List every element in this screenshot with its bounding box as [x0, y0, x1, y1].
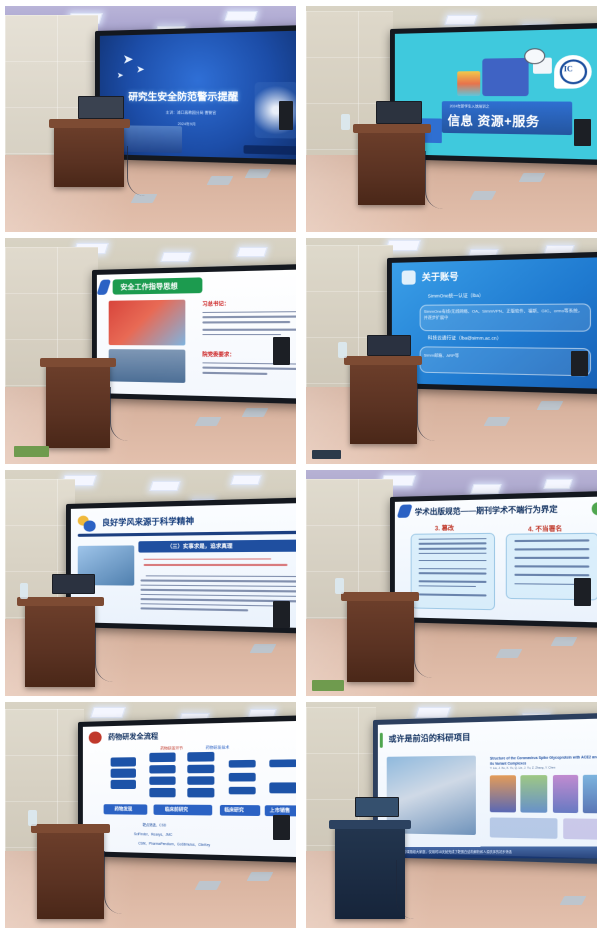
slide-presenter: 主讲：浦口高教园分局 曹警官 — [166, 110, 217, 116]
slide-title: 安全工作指导思想 — [121, 280, 178, 291]
footnote-3: CSM、PharmaPendium、GoStimulus、ClinKey — [138, 841, 210, 848]
bottom-caption: 团队协作的课题组大家庭，仅用时18天就完成了靶蛋白结构解析和人源抗体的初步筛选 — [390, 849, 511, 854]
floor-socket — [536, 401, 563, 410]
footnote-1: 靶点筛选、CSD — [142, 823, 166, 829]
structure-figure — [521, 775, 548, 813]
figure-authors: Y. Liu, J. Xu, X. Yu, Q. Lin, J. Yu, Z. … — [490, 766, 597, 770]
laptop-screen — [79, 97, 124, 118]
slide-title: 关于账号 — [422, 270, 459, 284]
green-case — [312, 680, 344, 691]
slide-footer — [244, 145, 296, 155]
dot-icon — [84, 521, 95, 531]
floor-socket — [244, 169, 271, 178]
ceiling-lamp — [470, 484, 501, 494]
ceiling-lamp — [91, 707, 127, 718]
floor-socket — [496, 649, 523, 658]
podium-top — [344, 356, 423, 365]
ceiling-lamp — [230, 475, 261, 485]
podium — [25, 601, 95, 687]
cable — [104, 851, 137, 914]
wall-speaker — [273, 601, 290, 628]
title-accent — [380, 732, 383, 747]
chart-figure — [563, 819, 597, 840]
podium — [46, 362, 110, 448]
ceiling-lamp — [543, 479, 572, 489]
figure-caption: Structure of the Coronavirus Spike Glyco… — [490, 755, 597, 767]
cable — [95, 628, 125, 682]
slide-content: 或许是前沿的科研项目 Structure of the Coronavirus … — [378, 718, 597, 858]
section-2-heading: 院党委要求： — [203, 351, 236, 359]
meeting-photo — [109, 349, 186, 383]
info-box-2 — [420, 346, 591, 376]
ceiling-lamp — [225, 11, 258, 21]
laptop-screen — [368, 336, 410, 354]
photo-panel-6[interactable]: 学术出版规范——期刊学术不端行为界定 3. 篡改 4. 不当署名 — [306, 470, 597, 696]
cable — [396, 860, 426, 919]
water-bottle — [20, 583, 29, 599]
laptop — [376, 101, 423, 124]
section-heading: （三）实事求是，追求真理 — [167, 542, 233, 550]
laptop — [52, 574, 96, 594]
structure-figure — [490, 775, 516, 813]
podium — [350, 360, 417, 444]
laptop-screen — [356, 798, 398, 816]
water-bottle — [338, 342, 347, 358]
wall-speaker — [574, 119, 591, 146]
slide-title: 学术出版规范——期刊学术不端行为界定 — [415, 503, 558, 517]
cable — [110, 387, 146, 441]
podium — [335, 824, 405, 919]
logo-icon — [89, 732, 102, 745]
slide-content: 良好学风来源于科学精神 （三）实事求是，追求真理 — [71, 503, 296, 628]
photo-panel-8[interactable]: 或许是前沿的科研项目 Structure of the Coronavirus … — [306, 702, 597, 928]
cable — [127, 146, 169, 196]
podium-top — [49, 119, 130, 128]
cable — [414, 619, 447, 678]
ic-badge: IC — [555, 54, 593, 88]
podium-top — [31, 824, 110, 833]
slide-content: 学术出版规范——期刊学术不端行为界定 3. 篡改 4. 不当署名 — [395, 496, 597, 623]
ceiling-lamp — [161, 252, 192, 262]
podium-top — [341, 592, 420, 601]
podium — [358, 128, 425, 205]
cable — [425, 151, 473, 210]
laptop-screen — [377, 102, 422, 123]
slide-title: 药物研发全流程 — [108, 731, 158, 742]
podium-top — [17, 597, 104, 606]
podium-top — [40, 358, 116, 367]
photo-panel-4[interactable]: 关于账号 SimmOne统一认证（lba） SimmOne有线/无线网络、OA、… — [306, 238, 597, 464]
slide-content: 安全工作指导思想 习总书记： 院党委要求： — [97, 269, 296, 398]
led-screen[interactable]: 或许是前沿的科研项目 Structure of the Coronavirus … — [373, 713, 597, 865]
title-icon — [402, 271, 416, 285]
podium-top — [353, 124, 432, 133]
ceiling-lamp — [415, 707, 451, 718]
slide-content: ➤ ➤ ➤ 研究生安全防范警示提醒 主讲：浦口高教园分局 曹警官 2024年9月 — [100, 30, 296, 158]
photo-panel-1[interactable]: ➤ ➤ ➤ 研究生安全防范警示提醒 主讲：浦口高教园分局 曹警官 2024年9月 — [5, 6, 296, 232]
stage-2-label: 临床前研究 — [164, 807, 187, 813]
chart-figure — [490, 818, 558, 839]
led-screen[interactable]: 药物研发全流程 药物研发环节 药物研发技术 — [78, 715, 296, 864]
footnote-2: SciFinder、Reaxys、JMC — [134, 832, 173, 838]
column-1-heading: 3. 篡改 — [435, 523, 454, 532]
title-accent — [397, 505, 413, 518]
photo-panel-7[interactable]: 药物研发全流程 药物研发环节 药物研发技术 — [5, 702, 296, 928]
stage-3-label: 临床研究 — [224, 807, 244, 814]
title-rule — [78, 530, 296, 536]
logo-icon — [592, 502, 597, 516]
bullet-1: SimmOne统一认证（lba） — [428, 293, 484, 300]
cable — [417, 383, 453, 442]
bullet-2: 科技云通行证（lba@simm.ac.cn） — [428, 335, 502, 342]
slide-eyebrow: 2024年新学生入馆培训之 — [450, 103, 490, 108]
water-bottle — [341, 114, 350, 130]
slide-title: 信息 资源+服务 — [448, 111, 540, 130]
floor-socket — [241, 408, 268, 417]
ceiling-lamp — [444, 15, 477, 25]
floor-socket — [206, 176, 233, 185]
floor-socket — [195, 417, 222, 426]
green-case — [14, 446, 49, 457]
water-bottle — [335, 578, 344, 594]
photo-panel-5[interactable]: 良好学风来源于科学精神 （三）实事求是，追求真理 — [5, 470, 296, 696]
led-screen[interactable]: 关于账号 SimmOne统一认证（lba） SimmOne有线/无线网络、OA、… — [387, 252, 597, 395]
led-screen[interactable]: 学术出版规范——期刊学术不端行为界定 3. 篡改 4. 不当署名 — [390, 491, 597, 629]
section-1-heading: 习总书记： — [203, 300, 230, 308]
equipment-case — [312, 450, 341, 459]
photo-panel-3[interactable]: 安全工作指导思想 习总书记： 院党委要求： — [5, 238, 296, 464]
wall-speaker — [279, 101, 294, 130]
led-screen[interactable]: 良好学风来源于科学精神 （三）实事求是，追求真理 — [66, 497, 296, 634]
stage-1-label: 药物发现 — [114, 807, 132, 813]
photo-panel-2[interactable]: IC 2024年新学生入馆培训之 信息 资源+服务 — [306, 6, 597, 232]
box-2-text: Simm邮箱、ARP等 — [424, 352, 459, 359]
ceiling-lamp — [149, 481, 180, 491]
wall-speaker — [273, 815, 290, 840]
led-screen[interactable]: ➤ ➤ ➤ 研究生安全防范警示提醒 主讲：浦口高教园分局 曹警官 2024年9月 — [95, 25, 296, 165]
podium-top — [329, 820, 410, 829]
stage-4-label: 上市销售 — [269, 808, 289, 815]
box-1-text: SimmOne有线/无线网络、OA、SimmVPN、正版软件、福斯、GIC、or… — [424, 308, 584, 323]
slide-content: 关于账号 SimmOne统一认证（lba） SimmOne有线/无线网络、OA、… — [392, 257, 597, 388]
legend-right: 药物研发技术 — [205, 746, 229, 752]
slide-content: IC 2024年新学生入馆培训之 信息 资源+服务 — [395, 28, 597, 159]
podium — [37, 829, 104, 919]
laptop — [367, 335, 411, 355]
floor-socket — [195, 881, 222, 890]
books-graphic — [458, 71, 480, 96]
title-accent — [97, 279, 111, 295]
legend-left: 药物研发环节 — [160, 747, 183, 753]
leader-photo — [109, 299, 186, 345]
podium — [54, 124, 124, 187]
column-2-heading: 4. 不当署名 — [528, 524, 562, 534]
structure-figure — [583, 774, 597, 813]
monitor-graphic — [482, 58, 528, 96]
laptop — [78, 96, 125, 119]
wall-speaker — [574, 578, 591, 605]
ceiling-lamp — [236, 247, 267, 257]
slide-title: 良好学风来源于科学精神 — [102, 515, 194, 528]
water-bottle — [28, 810, 37, 826]
wall-speaker — [571, 351, 588, 376]
photo-collage-grid: ➤ ➤ ➤ 研究生安全防范警示提醒 主讲：浦口高教园分局 曹警官 2024年9月 — [0, 0, 600, 932]
slide-title: 研究生安全防范警示提醒 — [129, 88, 239, 103]
laptop-screen — [53, 575, 95, 593]
structure-figure — [553, 775, 578, 814]
laptop — [355, 797, 399, 817]
podium — [347, 597, 414, 683]
slide-content: 药物研发全流程 药物研发环节 药物研发技术 — [83, 721, 296, 858]
slide-title: 或许是前沿的科研项目 — [389, 732, 471, 745]
wall-speaker — [273, 337, 290, 364]
led-screen[interactable]: 安全工作指导思想 习总书记： 院党委要求： — [92, 263, 296, 403]
